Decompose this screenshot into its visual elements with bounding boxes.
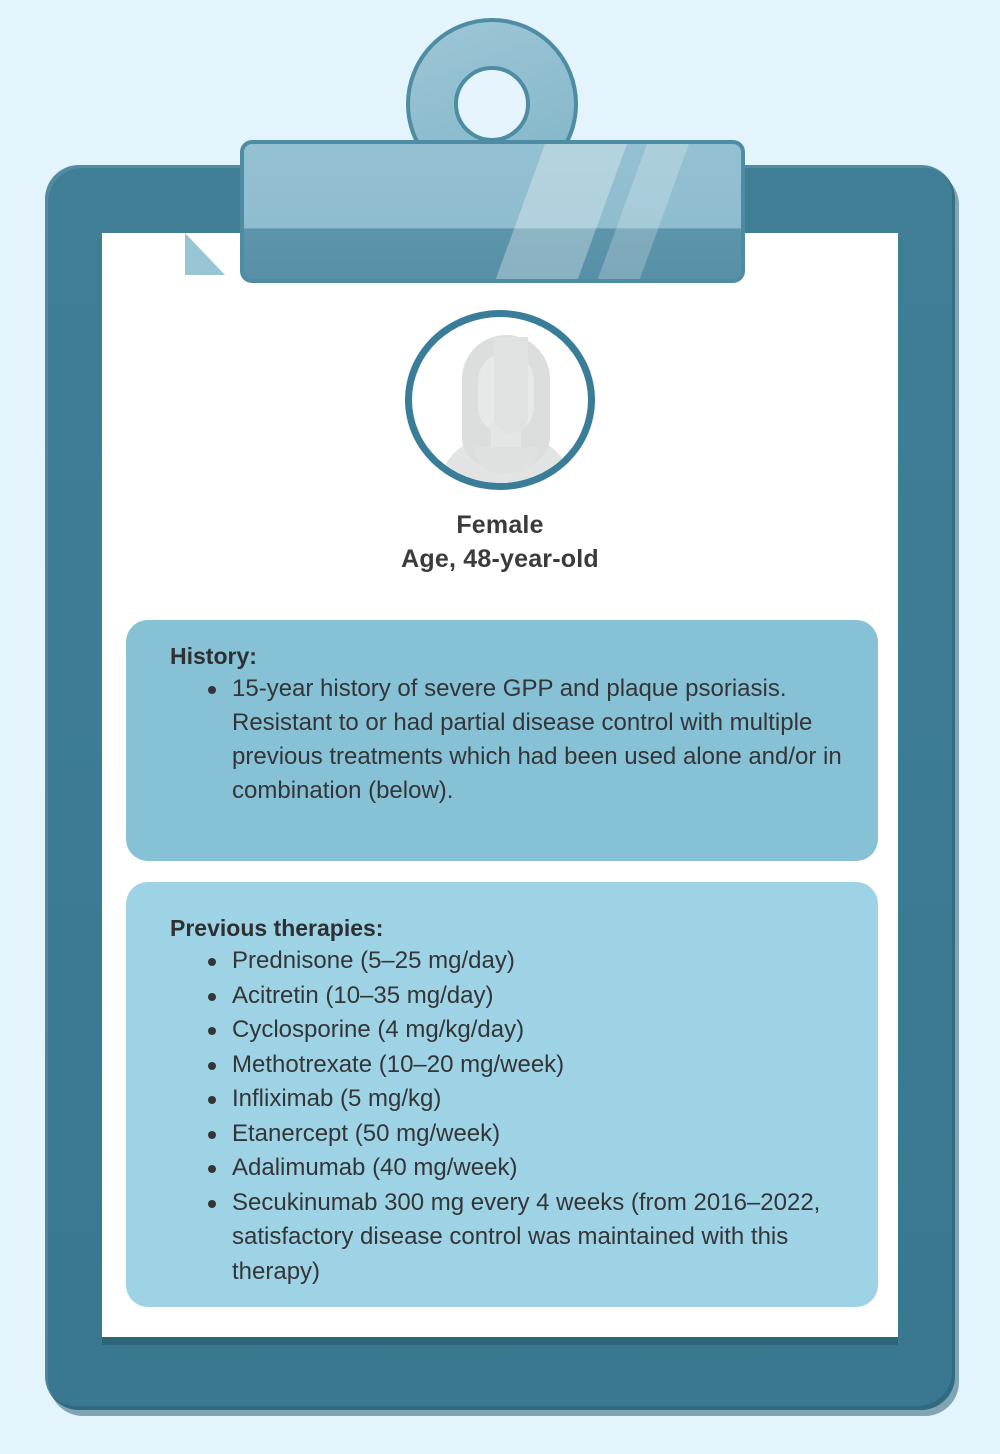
clip-shadow-left [185,233,225,275]
list-item: Infliximab (5 mg/kg) [204,1082,852,1117]
list-item: Etanercept (50 mg/week) [204,1117,852,1152]
previous-therapies-title: Previous therapies: [170,914,852,942]
list-item: Methotrexate (10–20 mg/week) [204,1048,852,1083]
history-list: 15-year history of severe GPP and plaque… [170,672,852,808]
female-avatar-icon [405,310,595,490]
previous-therapies-list: Prednisone (5–25 mg/day) Acitretin (10–3… [170,944,852,1289]
list-item: 15-year history of severe GPP and plaque… [204,672,852,808]
list-item: Prednisone (5–25 mg/day) [204,944,852,979]
list-item: Acitretin (10–35 mg/day) [204,979,852,1014]
avatar-hair-strand [494,337,528,433]
list-item: Secukinumab 300 mg every 4 weeks (from 2… [204,1186,852,1290]
patient-identity: Female Age, 48-year-old [0,508,1000,576]
clip-hole-icon [454,66,530,142]
patient-age: Age, 48-year-old [0,542,1000,576]
list-item: Cyclosporine (4 mg/kg/day) [204,1013,852,1048]
history-title: History: [170,642,852,670]
history-card: History: 15-year history of severe GPP a… [126,620,878,861]
previous-therapies-card: Previous therapies: Prednisone (5–25 mg/… [126,882,878,1307]
clip-bar [240,140,745,283]
avatar [405,310,595,490]
patient-sex: Female [0,508,1000,542]
list-item: Adalimumab (40 mg/week) [204,1151,852,1186]
clipboard-clip[interactable] [240,18,745,283]
